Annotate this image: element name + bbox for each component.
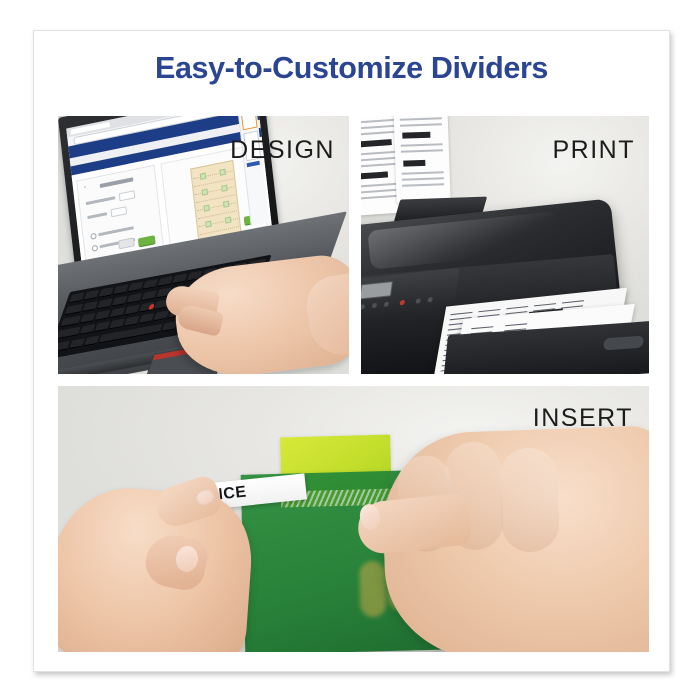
- form-spacer: [84, 186, 86, 188]
- printer-button: [415, 298, 421, 304]
- printer-button: [384, 301, 390, 307]
- panel-insert: FINANCE INSERT: [58, 386, 649, 652]
- radio-option: [90, 233, 97, 240]
- form-input: [119, 190, 136, 201]
- panel-design: DESIGN: [58, 116, 349, 374]
- printer-button: [361, 304, 365, 310]
- printer-power-button: [399, 300, 405, 306]
- form-label: [87, 212, 107, 219]
- form-input: [111, 206, 128, 217]
- panel-label-insert: INSERT: [533, 406, 633, 431]
- radio-option: [92, 245, 99, 252]
- printer-lcd-display: [361, 281, 393, 300]
- panel-label-print: PRINT: [553, 138, 636, 163]
- printer-button: [427, 297, 433, 303]
- tray-handle: [603, 336, 644, 351]
- form-heading: [100, 177, 134, 188]
- product-image-canvas: Easy-to-Customize Dividers: [0, 0, 700, 700]
- page-title: Easy-to-Customize Dividers: [34, 53, 669, 84]
- feeder-sheet: [393, 116, 450, 203]
- form-label: [86, 196, 116, 205]
- product-card: Easy-to-Customize Dividers: [33, 30, 670, 672]
- panel-label-design: DESIGN: [230, 138, 335, 163]
- palette-selected-swatch: [241, 116, 258, 130]
- form-cancel-button: [118, 237, 135, 249]
- panel-print: PRINT: [361, 116, 649, 374]
- form-primary-button: [138, 235, 156, 246]
- form-label: [98, 226, 134, 236]
- printer-button: [372, 303, 378, 309]
